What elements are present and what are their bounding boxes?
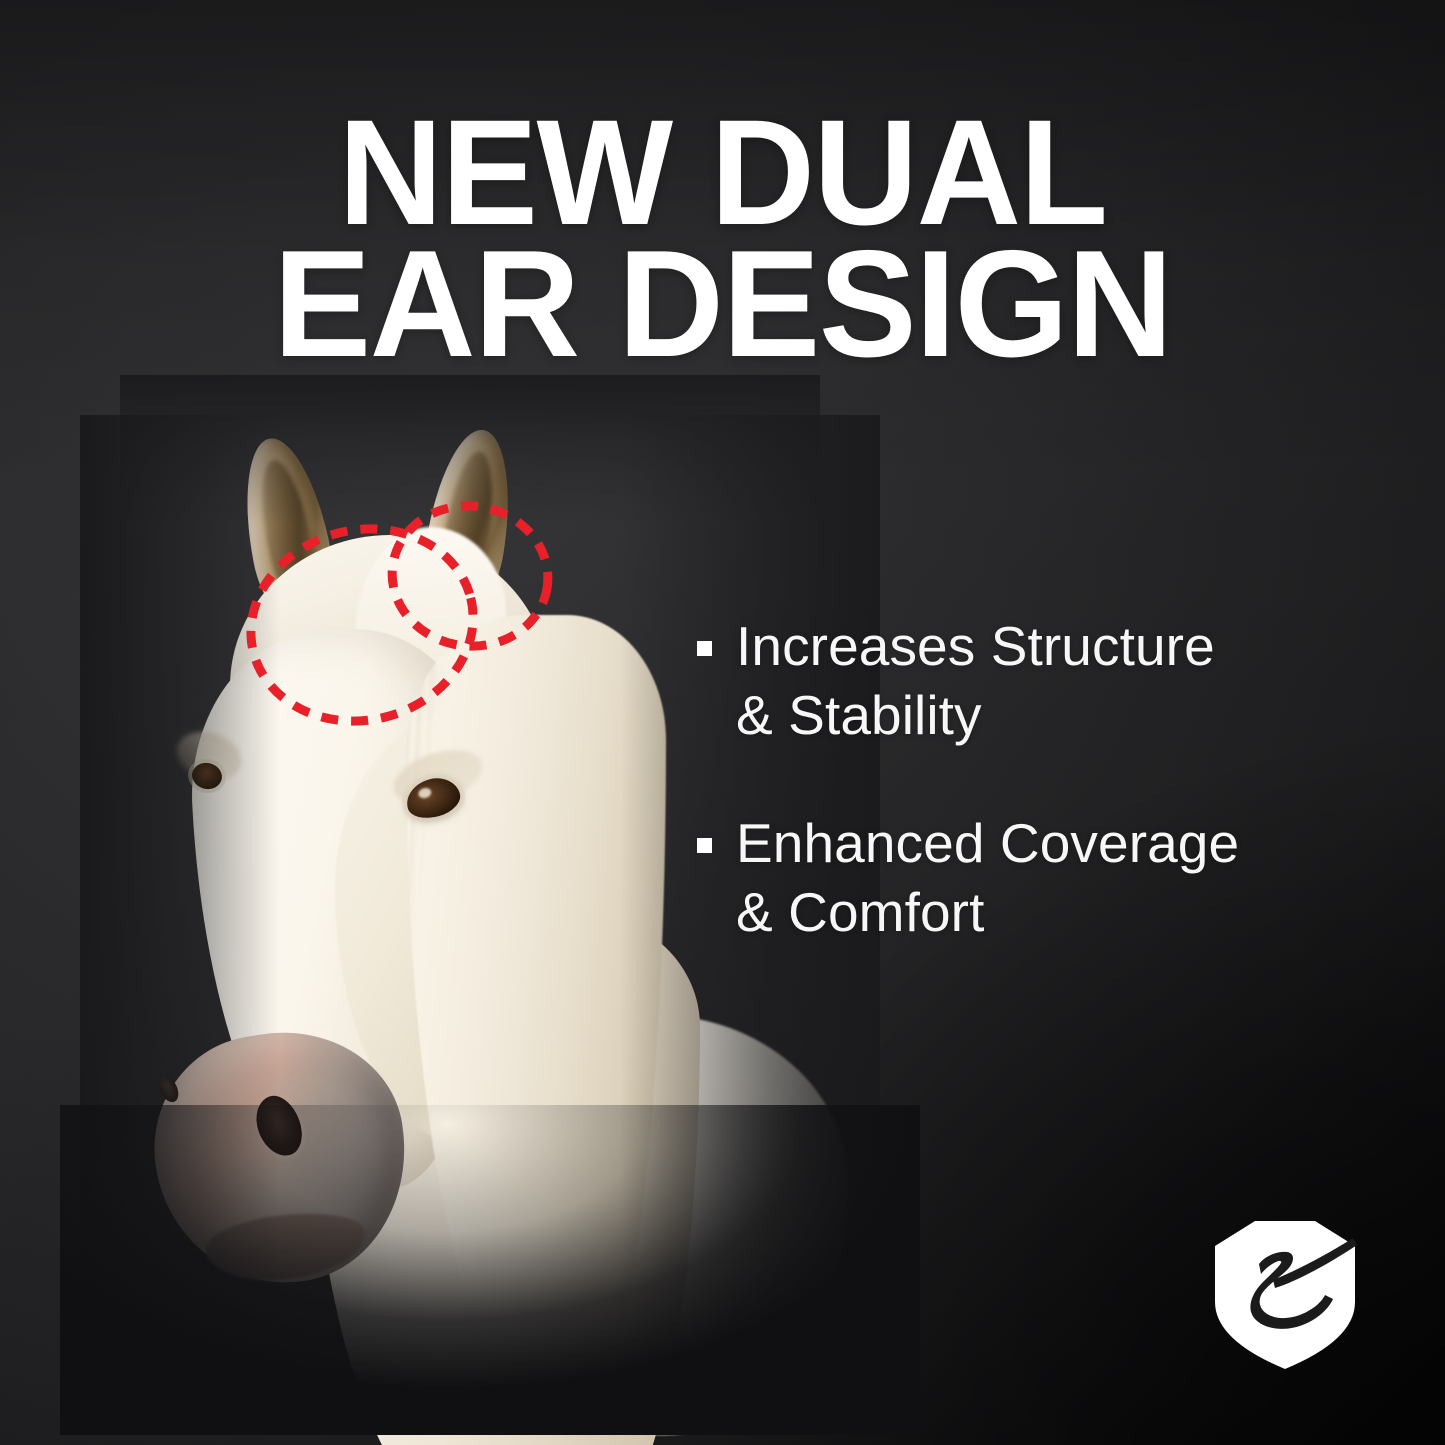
- feature-line-1: Increases Structure: [736, 615, 1215, 677]
- feature-line-1: Enhanced Coverage: [736, 812, 1239, 874]
- ad-canvas: NEW DUAL EAR DESIGN Increases Structure …: [0, 0, 1445, 1445]
- feature-text: Increases Structure & Stability: [736, 612, 1215, 751]
- feature-line-2: & Comfort: [736, 881, 984, 943]
- square-bullet-icon: [697, 641, 712, 656]
- page-title: NEW DUAL EAR DESIGN: [0, 106, 1445, 372]
- feature-list: Increases Structure & Stability Enhanced…: [697, 612, 1357, 1005]
- feature-text: Enhanced Coverage & Comfort: [736, 809, 1239, 948]
- square-bullet-icon: [697, 838, 712, 853]
- feature-line-2: & Stability: [736, 684, 982, 746]
- shield-shape: [1215, 1221, 1355, 1369]
- headline-line-2: EAR DESIGN: [25, 238, 1419, 372]
- brand-logo-icon: [1207, 1216, 1363, 1374]
- list-item: Enhanced Coverage & Comfort: [697, 809, 1357, 948]
- list-item: Increases Structure & Stability: [697, 612, 1357, 751]
